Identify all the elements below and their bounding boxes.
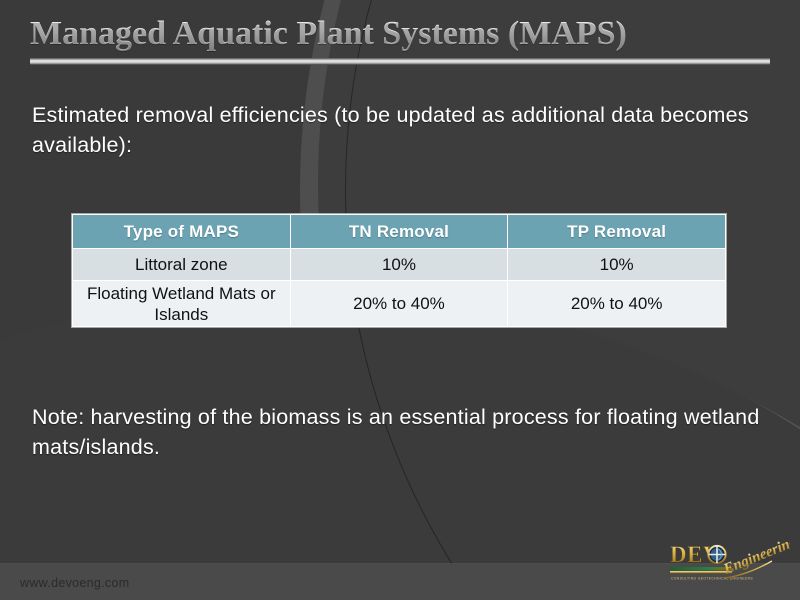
logo-tagline: CONSULTING GEOTECHNICAL ENGINEERS xyxy=(671,577,753,581)
table-body: Littoral zone 10% 10% Floating Wetland M… xyxy=(73,249,726,327)
cell-tn-removal: 20% to 40% xyxy=(290,281,508,327)
cell-tp-removal: 10% xyxy=(508,249,726,281)
title-underline-rule xyxy=(30,58,770,65)
logo-script-engineering: Engineering xyxy=(721,536,790,578)
intro-paragraph: Estimated removal efficiencies (to be up… xyxy=(32,100,752,160)
globe-icon xyxy=(708,546,725,563)
devo-engineering-logo: DEV CONSULTING GEOTECHNICAL ENGINEERS En… xyxy=(668,536,790,588)
table-header-row: Type of MAPS TN Removal TP Removal xyxy=(73,215,726,249)
logo-artwork: DEV CONSULTING GEOTECHNICAL ENGINEERS En… xyxy=(668,536,790,588)
cell-tp-removal: 20% to 40% xyxy=(508,281,726,327)
cell-type: Floating Wetland Mats or Islands xyxy=(73,281,291,327)
column-header-tn-removal: TN Removal xyxy=(290,215,508,249)
table-row: Littoral zone 10% 10% xyxy=(73,249,726,281)
logo-bar-gold xyxy=(670,571,732,573)
page-title: Managed Aquatic Plant Systems (MAPS) xyxy=(30,12,800,56)
slide-canvas: Managed Aquatic Plant Systems (MAPS) Est… xyxy=(0,0,800,600)
maps-removal-table: Type of MAPS TN Removal TP Removal Litto… xyxy=(72,214,726,327)
footer-website-url[interactable]: www.devoeng.com xyxy=(20,576,129,590)
column-header-type: Type of MAPS xyxy=(73,215,291,249)
column-header-tp-removal: TP Removal xyxy=(508,215,726,249)
title-area: Managed Aquatic Plant Systems (MAPS) xyxy=(0,12,800,56)
table-header: Type of MAPS TN Removal TP Removal xyxy=(73,215,726,249)
cell-tn-removal: 10% xyxy=(290,249,508,281)
table-row: Floating Wetland Mats or Islands 20% to … xyxy=(73,281,726,327)
note-paragraph: Note: harvesting of the biomass is an es… xyxy=(32,402,762,462)
cell-type: Littoral zone xyxy=(73,249,291,281)
